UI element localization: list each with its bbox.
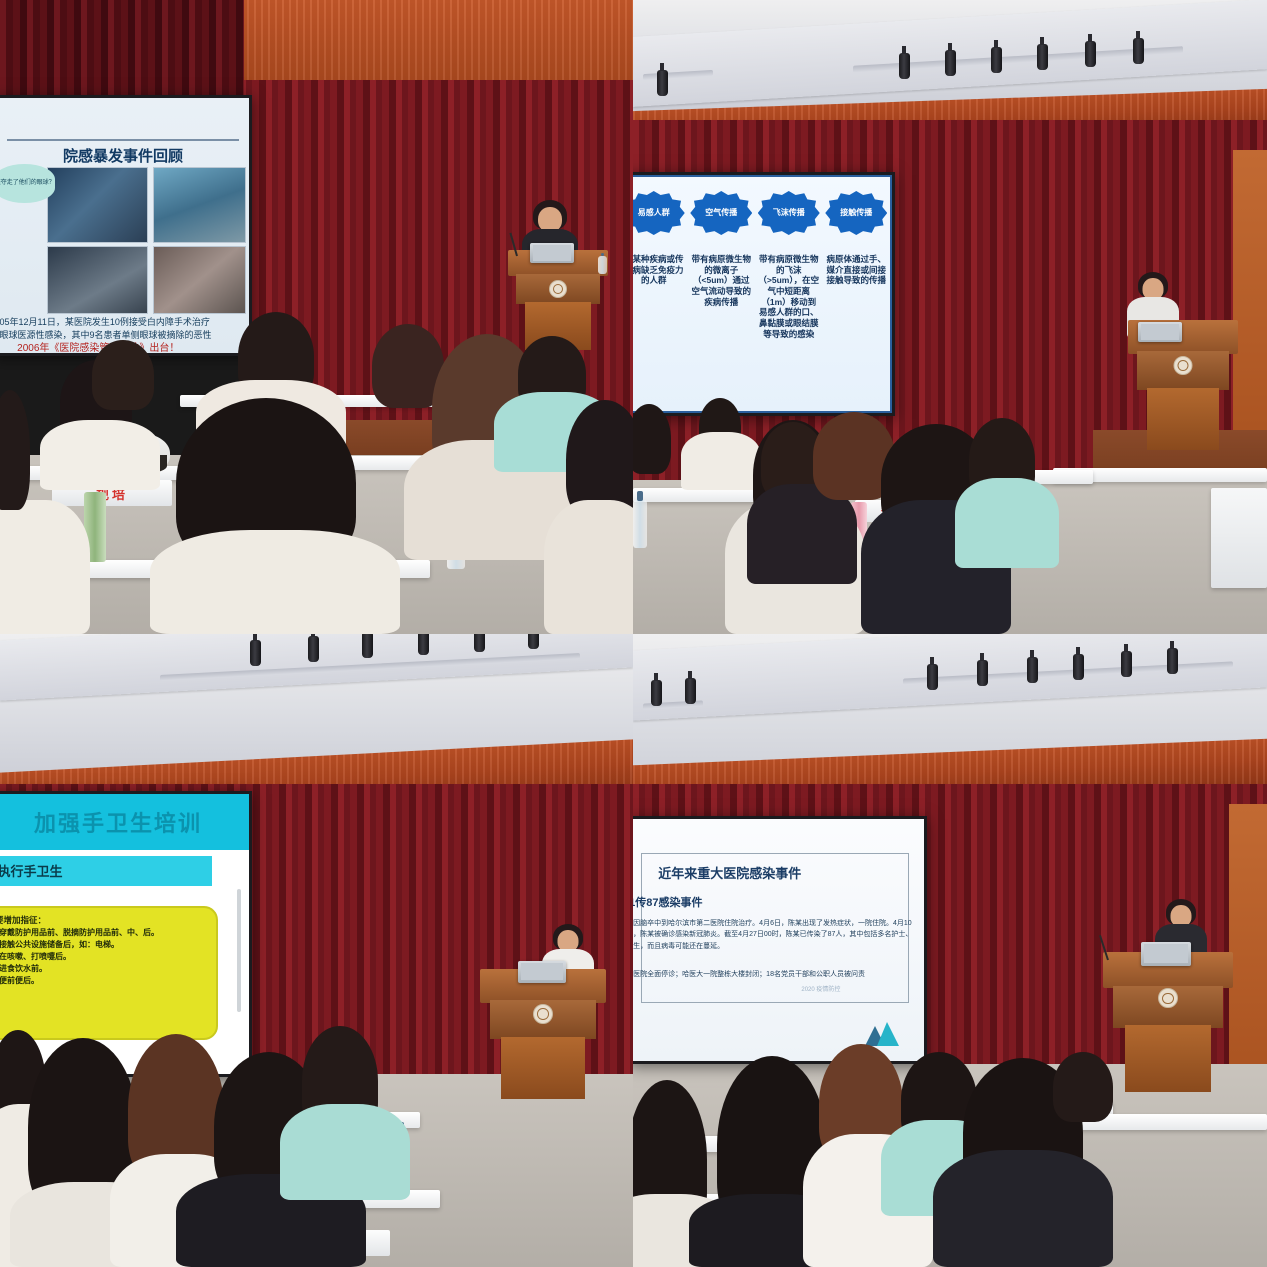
- badge-susceptible-population: 易感人群: [633, 191, 685, 235]
- slide-photo-4: [153, 246, 246, 314]
- track-light: [528, 634, 539, 649]
- callout-title: 重要增加指征：: [0, 914, 208, 927]
- projection-screen: 加强手卫生培训 执行手卫生 重要增加指征： 1、穿戴防护用品前、脱摘防护用品前、…: [0, 791, 252, 1077]
- slide-callout-box: 重要增加指征： 1、穿戴防护用品前、脱摘防护用品前、中、后。 2、接触公共设施储…: [0, 906, 218, 1040]
- slide-divider: [7, 139, 239, 141]
- audience-person: [1053, 1052, 1113, 1122]
- audience-person: [280, 1104, 410, 1200]
- track-light: [651, 680, 662, 706]
- callout-item: 2、接触公共设施储备后，如：电梯。: [0, 939, 208, 951]
- podium: [480, 969, 606, 1099]
- column-airborne: 带有病原微生物的微离子（<5um）通过空气流动导致的疾病传播: [690, 254, 752, 339]
- track-light: [685, 678, 696, 704]
- slide-paragraph: 某因脑卒中到哈尔滨市第二医院住院治疗。4月6日，陈某出现了发热症状，一院住院。4…: [633, 918, 915, 952]
- slide-title: 近年来重大医院感染事件: [658, 863, 801, 882]
- track-light: [474, 634, 485, 652]
- water-bottle: [633, 500, 647, 548]
- audience-person: [0, 500, 90, 634]
- callout-item: 1、穿戴防护用品前、脱摘防护用品前、中、后。: [0, 927, 208, 939]
- quadrant-top-right: 易感人群 空气传播 飞沫传播 接触传播 对某种疾病或传染病缺乏免疫力的人群 带有…: [633, 0, 1267, 634]
- photo-collage: 院感暴发事件回顾 还夺走了他们的眼球？ 05年12月11日，某医院发生10例接受…: [0, 0, 1267, 1267]
- audience-person: [681, 432, 761, 490]
- column-contact: 病原体通过手、媒介直接或间接接触导致的传播: [825, 254, 887, 339]
- projection-screen: 院感暴发事件回顾 还夺走了他们的眼球？ 05年12月11日，某医院发生10例接受…: [0, 95, 252, 356]
- track-light: [1167, 648, 1178, 674]
- column-droplet: 带有病原微生物的飞沫（>5um），在空气中短距离（1m）移动到易感人群的口、鼻黏…: [758, 254, 820, 339]
- track-light: [945, 50, 956, 76]
- slide-scrollbar[interactable]: [237, 889, 241, 1012]
- callout-item: 3、在咳嗽、打喷嚏后。: [0, 951, 208, 963]
- desk: [633, 488, 763, 502]
- water-bottle: [598, 256, 607, 274]
- slide-title: 院感暴发事件回顾: [0, 145, 249, 166]
- audience-person: [933, 1150, 1113, 1267]
- track-light: [1133, 38, 1144, 64]
- audience-person: [150, 530, 400, 634]
- slide-subtitle-bar: 执行手卫生: [0, 856, 212, 887]
- badge-contact: 接触传播: [825, 191, 887, 235]
- track-light: [1121, 651, 1132, 677]
- podium: [1103, 952, 1233, 1092]
- slide-hand-hygiene: 加强手卫生培训 执行手卫生 重要增加指征： 1、穿戴防护用品前、脱摘防护用品前、…: [0, 794, 249, 1074]
- audience-person: [40, 420, 160, 490]
- callout-item: 4、进食饮水前。: [0, 963, 208, 975]
- wall-panel: [1229, 804, 1267, 1104]
- podium-body: [1125, 1025, 1211, 1092]
- audience-person: [0, 390, 30, 510]
- desk: [1211, 488, 1267, 588]
- audience-person: [633, 404, 671, 474]
- slide-outbreak-review: 院感暴发事件回顾 还夺走了他们的眼球？ 05年12月11日，某医院发生10例接受…: [0, 98, 249, 353]
- track-light: [418, 634, 429, 655]
- slide-major-infection-events: 近年来重大医院感染事件 1传87感染事件 某因脑卒中到哈尔滨市第二医院住院治疗。…: [633, 819, 924, 1061]
- presenter-laptop: [530, 243, 574, 263]
- track-light: [1027, 657, 1038, 683]
- presenter-laptop: [1141, 942, 1191, 966]
- slide-paragraph: 二医院全面停诊；哈医大一院整栋大楼封闭；18名党员干部和公职人员被问责: [633, 969, 915, 980]
- track-light: [977, 660, 988, 686]
- slide-banner-text: 加强手卫生培训: [34, 806, 202, 838]
- slide-photo-3: [47, 246, 147, 314]
- track-light: [1037, 44, 1048, 70]
- quadrant-bottom-left: 加强手卫生培训 执行手卫生 重要增加指征： 1、穿戴防护用品前、脱摘防护用品前、…: [0, 634, 633, 1267]
- slide-speech-bubble: 还夺走了他们的眼球？: [0, 164, 55, 202]
- audience-person: [92, 340, 154, 410]
- callout-item: 5、便前便后。: [0, 975, 208, 987]
- slide-banner: 加强手卫生培训: [0, 794, 249, 850]
- podium: [508, 250, 608, 350]
- slide-subtitle: 1传87感染事件: [633, 894, 702, 910]
- audience-person: [955, 478, 1059, 568]
- column-susceptible: 对某种疾病或传染病缺乏免疫力的人群: [633, 254, 685, 339]
- stage-curtain-left: [0, 0, 244, 96]
- track-light: [308, 636, 319, 662]
- podium-emblem-icon: [1174, 356, 1193, 375]
- podium-body: [501, 1037, 584, 1099]
- slide-watermark: 2020 疫情防控: [801, 984, 840, 993]
- podium-body: [1147, 388, 1220, 450]
- audience-person: [544, 500, 633, 634]
- podium-emblem-icon: [1158, 988, 1178, 1008]
- slide-photo-2: [153, 167, 246, 243]
- podium-emblem-icon: [533, 1004, 553, 1024]
- slide-photo-1: [47, 167, 147, 243]
- badge-row: 易感人群 空气传播 飞沫传播 接触传播: [633, 191, 890, 235]
- track-light: [1085, 41, 1096, 67]
- track-light: [899, 53, 910, 79]
- projection-screen: 易感人群 空气传播 飞沫传播 接触传播 对某种疾病或传染病缺乏免疫力的人群 带有…: [633, 172, 895, 416]
- badge-droplet: 飞沫传播: [758, 191, 820, 235]
- podium-emblem-icon: [549, 280, 567, 298]
- presenter-laptop: [1138, 322, 1182, 342]
- badge-airborne: 空气传播: [690, 191, 752, 235]
- description-columns: 对某种疾病或传染病缺乏免疫力的人群 带有病原微生物的微离子（<5um）通过空气流…: [633, 254, 890, 339]
- mountain-icon: [861, 1020, 901, 1046]
- track-light: [927, 664, 938, 690]
- track-light: [991, 47, 1002, 73]
- presenter-laptop: [518, 961, 566, 983]
- slide-body-line-1: 05年12月11日，某医院发生10例接受白内障手术治疗: [0, 316, 244, 329]
- track-light: [657, 70, 668, 96]
- projection-screen: 近年来重大医院感染事件 1传87感染事件 某因脑卒中到哈尔滨市第二医院住院治疗。…: [633, 816, 927, 1064]
- track-light: [1073, 654, 1084, 680]
- track-light: [250, 640, 261, 666]
- quadrant-top-left: 院感暴发事件回顾 还夺走了他们的眼球？ 05年12月11日，某医院发生10例接受…: [0, 0, 633, 634]
- track-light: [362, 634, 373, 658]
- quadrant-bottom-right: 近年来重大医院感染事件 1传87感染事件 某因脑卒中到哈尔滨市第二医院住院治疗。…: [633, 634, 1267, 1267]
- slide-transmission-routes: 易感人群 空气传播 飞沫传播 接触传播 对某种疾病或传染病缺乏免疫力的人群 带有…: [633, 175, 892, 413]
